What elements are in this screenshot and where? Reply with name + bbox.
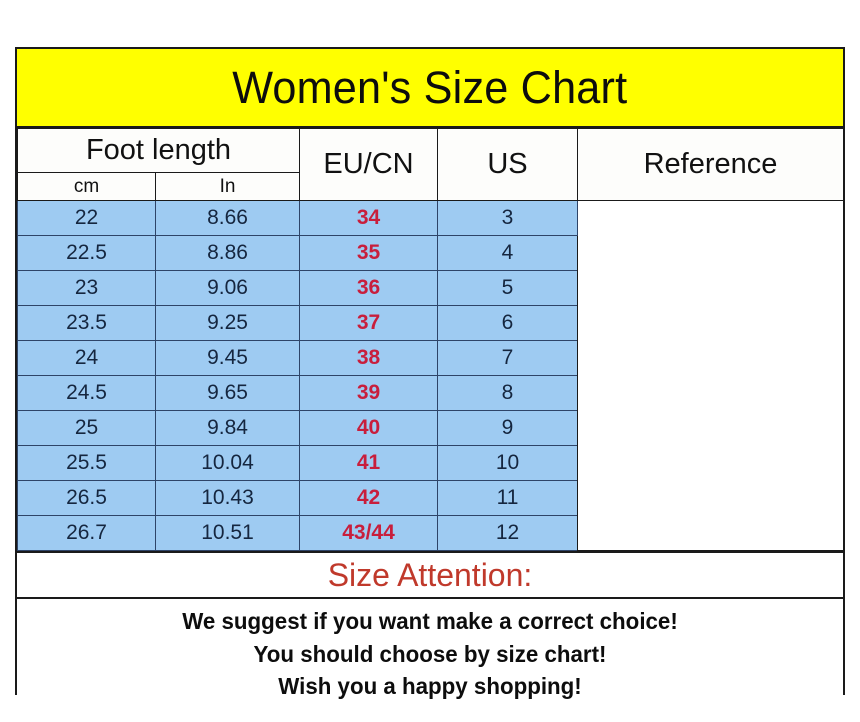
cell-eu-cn: 37 bbox=[300, 306, 438, 341]
cell-eu-cn: 35 bbox=[300, 236, 438, 271]
cell-in: 10.43 bbox=[156, 481, 300, 516]
cell-us: 12 bbox=[438, 516, 578, 551]
table-row: 22 8.66 34 3 bbox=[18, 201, 844, 236]
cell-eu-cn: 34 bbox=[300, 201, 438, 236]
note-line: Wish you a happy shopping! bbox=[29, 670, 830, 703]
cell-in: 9.84 bbox=[156, 411, 300, 446]
size-attention-row: Size Attention: bbox=[17, 551, 843, 597]
cell-in: 9.65 bbox=[156, 376, 300, 411]
table-header-row-main: Foot length EU/CN US Reference bbox=[18, 129, 844, 173]
header-in: In bbox=[156, 173, 300, 201]
header-foot-length: Foot length bbox=[18, 129, 300, 173]
page-title: Women's Size Chart bbox=[232, 62, 627, 114]
reference-cell: (脚长) method:inner length of shoe=length … bbox=[578, 201, 844, 551]
size-attention-title: Size Attention: bbox=[328, 557, 533, 594]
cell-cm: 24 bbox=[18, 341, 156, 376]
cell-us: 4 bbox=[438, 236, 578, 271]
cell-in: 8.66 bbox=[156, 201, 300, 236]
cell-us: 6 bbox=[438, 306, 578, 341]
cell-cm: 25 bbox=[18, 411, 156, 446]
cell-in: 10.51 bbox=[156, 516, 300, 551]
note-line: You should choose by size chart! bbox=[29, 638, 830, 671]
cell-in: 9.45 bbox=[156, 341, 300, 376]
cell-cm: 23 bbox=[18, 271, 156, 306]
cell-eu-cn: 38 bbox=[300, 341, 438, 376]
cell-eu-cn: 36 bbox=[300, 271, 438, 306]
cell-us: 5 bbox=[438, 271, 578, 306]
cell-eu-cn: 41 bbox=[300, 446, 438, 481]
header-cm: cm bbox=[18, 173, 156, 201]
cell-cm: 22 bbox=[18, 201, 156, 236]
cell-cm: 25.5 bbox=[18, 446, 156, 481]
cell-in: 9.06 bbox=[156, 271, 300, 306]
cell-cm: 23.5 bbox=[18, 306, 156, 341]
cell-cm: 26.5 bbox=[18, 481, 156, 516]
header-eu-cn: EU/CN bbox=[300, 129, 438, 201]
cell-us: 9 bbox=[438, 411, 578, 446]
cell-in: 9.25 bbox=[156, 306, 300, 341]
cell-eu-cn: 40 bbox=[300, 411, 438, 446]
cell-in: 10.04 bbox=[156, 446, 300, 481]
header-reference: Reference bbox=[578, 129, 844, 201]
cell-in: 8.86 bbox=[156, 236, 300, 271]
cell-cm: 26.7 bbox=[18, 516, 156, 551]
cell-cm: 22.5 bbox=[18, 236, 156, 271]
cell-us: 11 bbox=[438, 481, 578, 516]
size-chart: Women's Size Chart Foot length EU/CN US … bbox=[15, 47, 845, 695]
size-notes: We suggest if you want make a correct ch… bbox=[17, 597, 843, 711]
cell-eu-cn: 42 bbox=[300, 481, 438, 516]
size-table: Foot length EU/CN US Reference cm In 22 … bbox=[17, 128, 844, 551]
cell-us: 8 bbox=[438, 376, 578, 411]
note-line: We suggest if you want make a correct ch… bbox=[29, 605, 830, 638]
cell-us: 7 bbox=[438, 341, 578, 376]
cell-us: 3 bbox=[438, 201, 578, 236]
cell-us: 10 bbox=[438, 446, 578, 481]
chart-title-banner: Women's Size Chart bbox=[17, 49, 843, 128]
cell-eu-cn: 43/44 bbox=[300, 516, 438, 551]
cell-eu-cn: 39 bbox=[300, 376, 438, 411]
header-us: US bbox=[438, 129, 578, 201]
cell-cm: 24.5 bbox=[18, 376, 156, 411]
